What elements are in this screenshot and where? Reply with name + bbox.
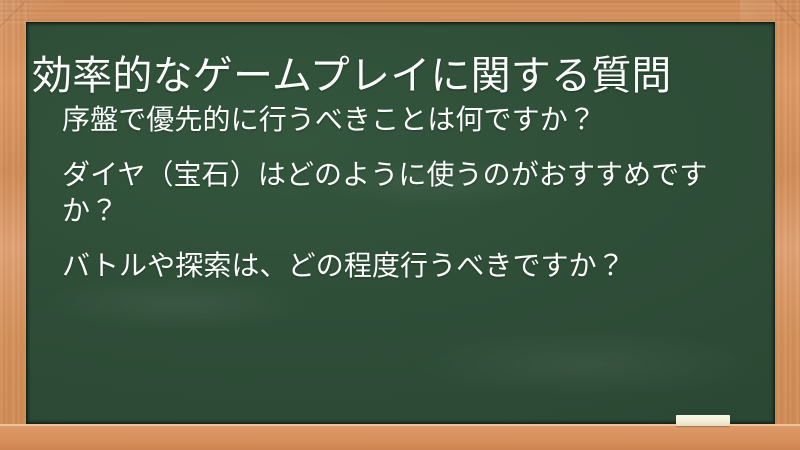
- chalkboard-surface: 効率的なゲームプレイに関する質問 序盤で優先的に行うべきことは何ですか？ ダイヤ…: [26, 22, 775, 424]
- frame-grain-top: [0, 0, 800, 24]
- chalk-stick-icon: [676, 415, 730, 426]
- list-item: バトルや探索は、どの程度行うべきですか？: [62, 248, 752, 284]
- chalk-ledge: [0, 424, 800, 450]
- list-item: 序盤で優先的に行うべきことは何ですか？: [62, 102, 752, 138]
- chalkboard-content: 効率的なゲームプレイに関する質問 序盤で優先的に行うべきことは何ですか？ ダイヤ…: [26, 22, 775, 424]
- question-list: 序盤で優先的に行うべきことは何ですか？ ダイヤ（宝石）はどのように使うのがおすす…: [62, 102, 752, 284]
- list-item: ダイヤ（宝石）はどのように使うのがおすすめですか？: [62, 157, 752, 229]
- blackboard-slide: 効率的なゲームプレイに関する質問 序盤で優先的に行うべきことは何ですか？ ダイヤ…: [0, 0, 800, 450]
- slide-title: 効率的なゲームプレイに関する質問: [32, 53, 768, 99]
- frame-grain-right: [772, 0, 800, 450]
